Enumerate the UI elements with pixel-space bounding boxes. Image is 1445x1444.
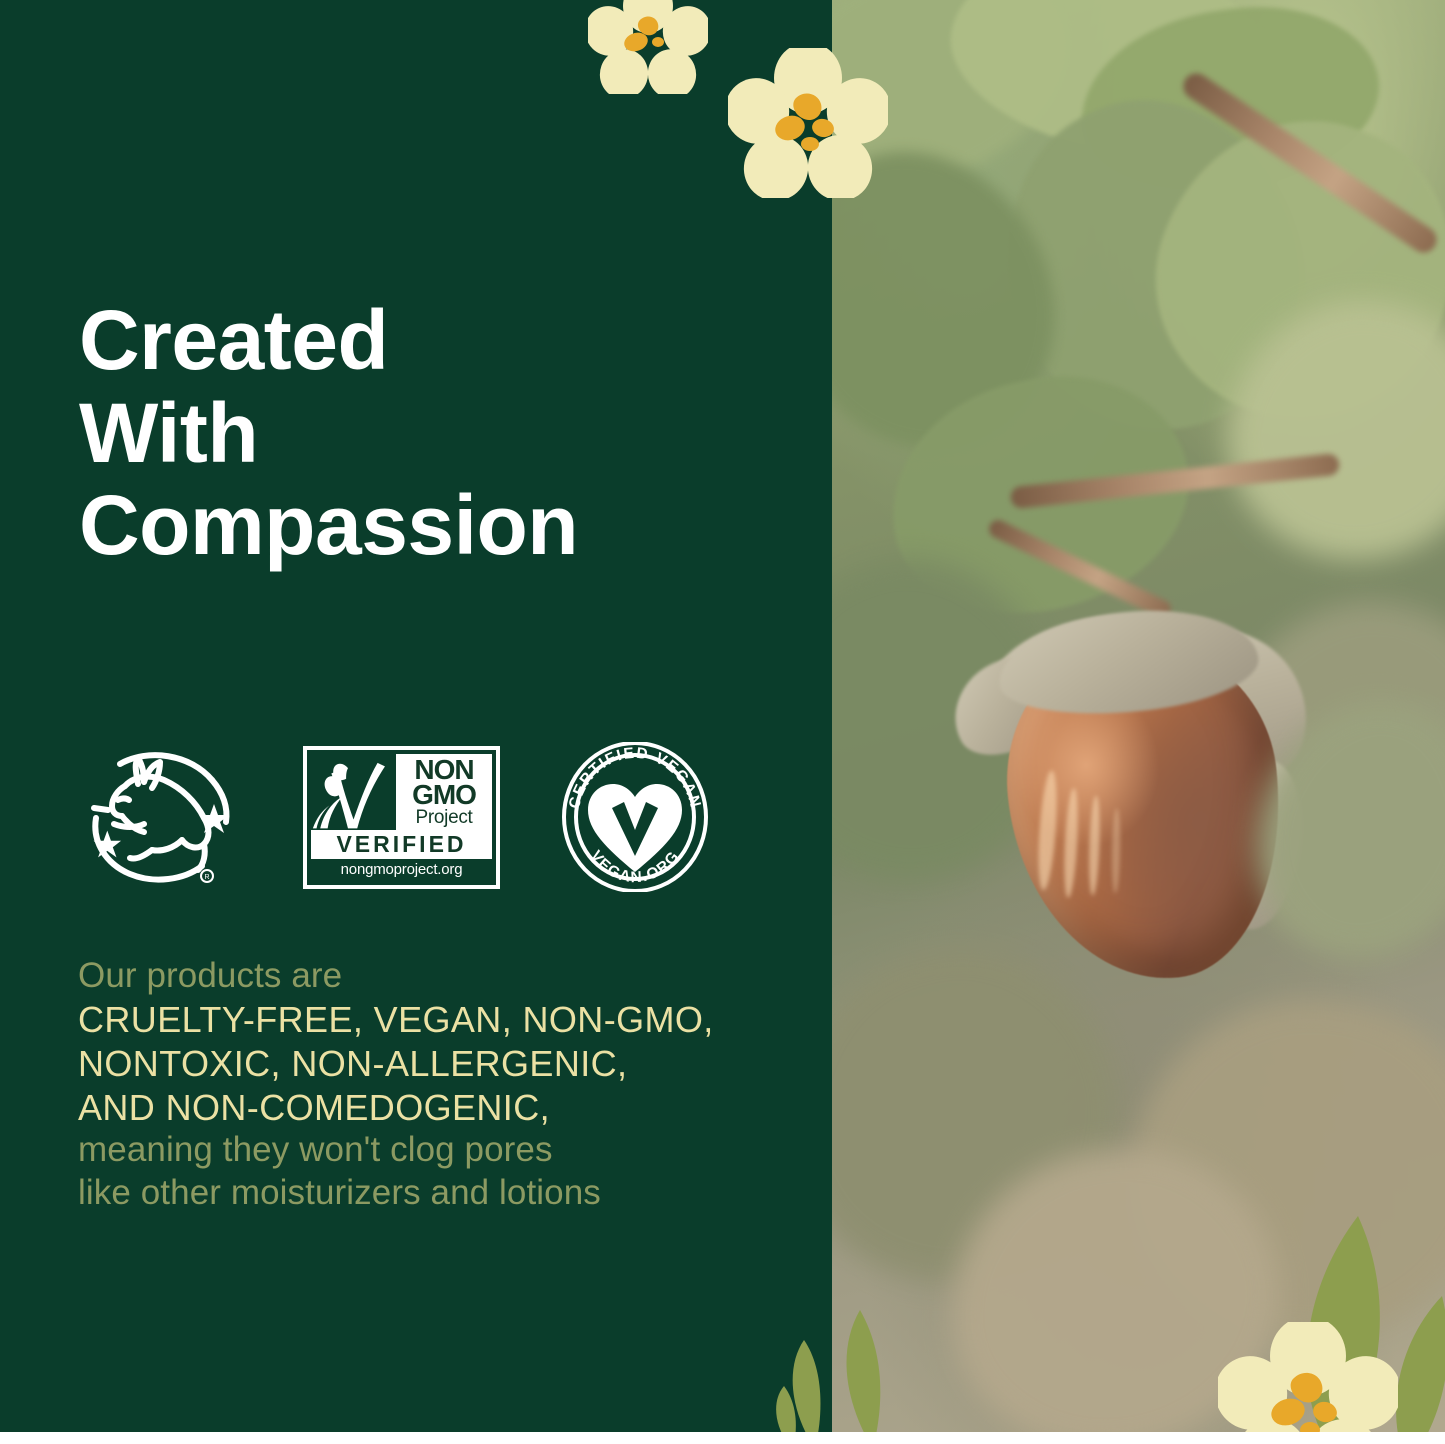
non-gmo-verified-badge: NON GMO Project VERIFIED nongmoproject.o… (303, 746, 500, 889)
marketing-banner: Created With Compassion (0, 0, 1445, 1444)
headline-line-1: Created (79, 294, 799, 386)
content-panel (0, 0, 832, 1432)
copy-claim-3: AND NON-COMEDOGENIC, (78, 1086, 808, 1130)
certification-badges: R (78, 742, 710, 892)
body-copy: Our products are CRUELTY-FREE, VEGAN, NO… (78, 955, 808, 1215)
headline-line-2: With (79, 387, 799, 479)
leaping-bunny-icon: R (78, 742, 243, 892)
non-gmo-verified-label: VERIFIED (311, 830, 492, 859)
flower-icon (728, 48, 888, 198)
copy-claim-1: CRUELTY-FREE, VEGAN, NON-GMO, (78, 998, 808, 1042)
non-gmo-plant-icon (311, 754, 396, 830)
copy-note-2: like other moisturizers and lotions (78, 1172, 808, 1215)
svg-text:R: R (204, 874, 209, 881)
headline-line-3: Compassion (79, 479, 799, 571)
flower-icon (588, 0, 708, 94)
page-title: Created With Compassion (79, 294, 799, 571)
leaf-icon (752, 1248, 982, 1444)
flower-icon (1218, 1322, 1398, 1444)
certified-vegan-badge: CERTIFIED VEGAN VEGAN.ORG (560, 742, 710, 892)
non-gmo-word-project: Project (416, 809, 473, 826)
copy-note-1: meaning they won't clog pores (78, 1129, 808, 1172)
bottom-edge (0, 1432, 1445, 1444)
non-gmo-wordmark: NON GMO Project (396, 754, 492, 830)
copy-claim-2: NONTOXIC, NON-ALLERGENIC, (78, 1042, 808, 1086)
non-gmo-word-gmo: GMO (412, 782, 476, 808)
non-gmo-url: nongmoproject.org (311, 859, 492, 881)
copy-intro: Our products are (78, 955, 808, 998)
